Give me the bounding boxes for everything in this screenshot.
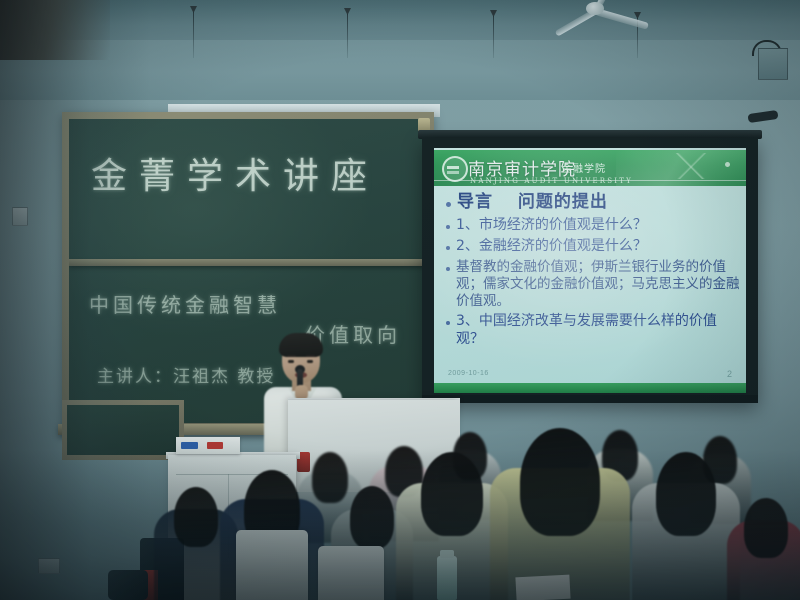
slide-bullet-text: 3、中国经济改革与发展需要什么样的价值观？: [456, 313, 740, 349]
ceiling-fan-hub: [586, 2, 604, 15]
presenter-eye-right: [307, 360, 313, 363]
slide-header-band: 南京审计学院 金融学院 NANJING AUDIT UNIVERSITY: [434, 150, 746, 186]
bullet-dot-icon: [446, 225, 450, 229]
bullet-dot-icon: [446, 202, 451, 207]
audience-member-head: [312, 452, 348, 503]
projection-screen: 南京审计学院 金融学院 NANJING AUDIT UNIVERSITY 导言 …: [422, 138, 758, 403]
slide-bullet-text: 1、市场经济的价值观是什么？: [456, 217, 647, 235]
presenter-eyebrow-left: [287, 355, 296, 357]
slide-bullet: 3、中国经济改革与发展需要什么样的价值观？: [444, 313, 740, 349]
chair: [318, 546, 384, 600]
bullet-dot-icon: [446, 246, 450, 250]
paper-sheet: [515, 575, 570, 600]
presenter-hair: [279, 333, 323, 357]
audience-member-head: [421, 452, 483, 536]
presentation-slide: 南京审计学院 金融学院 NANJING AUDIT UNIVERSITY 导言 …: [434, 148, 746, 393]
presenter-eye-left: [288, 360, 294, 363]
slide-bullet: 1、市场经济的价值观是什么？: [444, 217, 740, 235]
wall-speaker: [758, 48, 788, 80]
slide-bullet: 基督教的金融价值观；伊斯兰银行业务的价值观；儒家文化的金融价值观；马克思主义的金…: [444, 259, 740, 311]
institution-name-en: NANJING AUDIT UNIVERSITY: [470, 177, 633, 185]
slide-heading: 导言 问题的提出: [457, 192, 608, 214]
water-bottle-cap: [440, 550, 454, 558]
hanging-wire: [193, 12, 194, 58]
audience-member-head: [520, 428, 600, 536]
slide-date: 2009-10-16: [448, 370, 489, 377]
slide-bullet: 导言 问题的提出: [444, 192, 740, 214]
university-seal-icon: [442, 156, 468, 182]
audience-member-head: [656, 452, 716, 536]
presenter-eyebrow-right: [306, 355, 315, 357]
box-label-red: [207, 442, 223, 449]
slide-bullet-text: 2、金融经济的价值观是什么？: [456, 238, 647, 256]
header-decoration-icon: [670, 153, 712, 179]
left-wall-shadow: [0, 0, 150, 600]
hanging-wire: [347, 14, 348, 58]
box-label-blue: [181, 442, 198, 449]
bullet-dot-icon: [446, 321, 450, 325]
department-name-cn: 金融学院: [562, 160, 606, 175]
audience-member-head: [744, 498, 788, 558]
header-dot-icon: [725, 162, 730, 167]
audience-member-head: [174, 487, 218, 547]
slide-bullet-text: 基督教的金融价值观；伊斯兰银行业务的价值观；儒家文化的金融价值观；马克思主义的金…: [456, 259, 740, 311]
screen-bottom-bar: [422, 395, 758, 403]
lecture-hall-photo: 金菁学术讲座 中国传统金融智慧 价值取向 主讲人：汪祖杰 教授 南京审计学院 金…: [0, 0, 800, 600]
hanging-wire: [493, 16, 494, 58]
slide-footer-bar: [434, 383, 746, 393]
audience-member-head: [350, 486, 394, 549]
slide-body: 导言 问题的提出 1、市场经济的价值观是什么？ 2、金融经济的价值观是什么？ 基…: [444, 192, 740, 352]
chair: [236, 530, 308, 600]
slide-page-number: 2: [727, 369, 732, 379]
bullet-dot-icon: [446, 267, 450, 271]
water-bottle: [437, 556, 457, 600]
slide-bullet: 2、金融经济的价值观是什么？: [444, 238, 740, 256]
